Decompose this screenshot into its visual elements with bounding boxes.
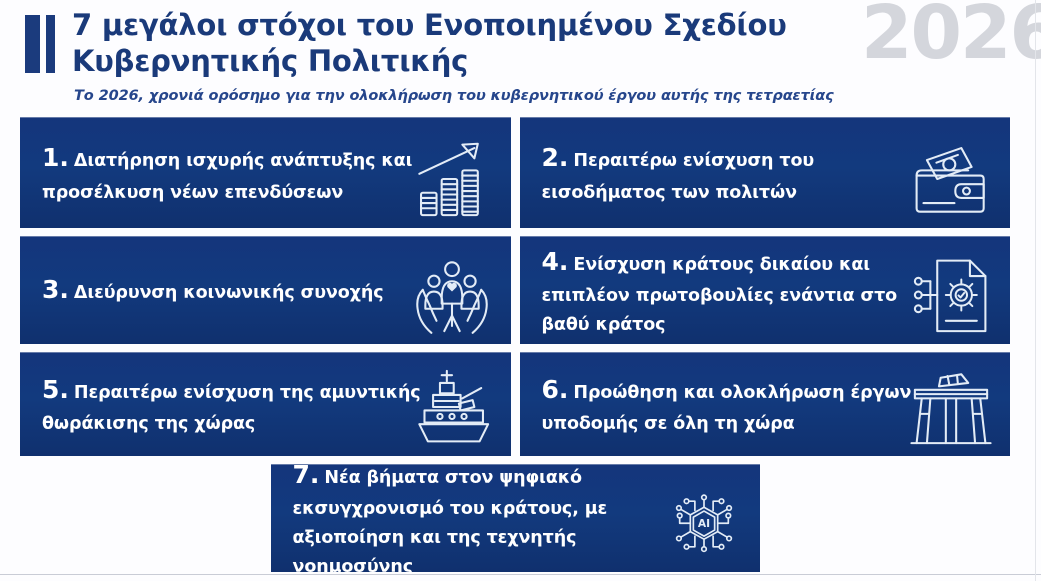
goal-card-4[interactable]: 4.Ενίσχυση κράτους δικαίου και επιπλέον … [520,236,1011,344]
logo-bars [25,15,55,73]
goal-card-7-number: 7. [293,464,320,489]
bottom-divider [0,574,1041,575]
goal-card-5-label: Περαιτέρω ενίσχυση της αμυντικής θωράκισ… [42,383,421,434]
goal-card-6-text: 6.Προώθηση και ολοκλήρωση έργων υποδομής… [520,369,925,439]
goal-card-4-number: 4. [542,247,569,276]
goal-card-3[interactable]: 3.Διεύρυνση κοινωνικής συνοχής [20,236,511,344]
goal-card-3-label: Διεύρυνση κοινωνικής συνοχής [74,283,384,303]
goal-card-2[interactable]: 2.Περαιτέρω ενίσχυση του εισοδήματος των… [520,117,1011,228]
page-title: 7 μεγάλοι στόχοι του Ενοποιημένου Σχεδίο… [72,8,902,80]
goals-row-2: 3.Διεύρυνση κοινωνικής συνοχής [20,236,1010,344]
goal-card-5-number: 5. [42,375,69,404]
goal-card-7-label: Νέα βήματα στον ψηφιακό εκσυγχρονισμό το… [293,468,608,572]
goal-card-2-label: Περαιτέρω ενίσχυση του εισοδήματος των π… [542,151,815,202]
goal-card-4-text: 4.Ενίσχυση κράτους δικαίου και επιπλέον … [520,241,925,340]
goals-row-1: 1.Διατήρηση ισχυρής ανάπτυξης και προσέλ… [20,117,1010,228]
subtitle: Το 2026, χρονιά ορόσημο για την ολοκλήρω… [74,88,834,104]
goal-card-7[interactable]: 7.Νέα βήματα στον ψηφιακό εκσυγχρονισμό … [271,464,760,572]
logo-bar-thin [46,15,55,73]
goal-card-6-number: 6. [542,375,569,404]
right-edge-divider [1035,0,1036,581]
goal-card-4-label: Ενίσχυση κράτους δικαίου και επιπλέον πρ… [542,255,898,335]
goals-row-3: 5.Περαιτέρω ενίσχυση της αμυντικής θωράκ… [20,352,1010,456]
goal-card-1-label: Διατήρηση ισχυρής ανάπτυξης και προσέλκυ… [42,151,412,202]
goals-row-4: 7.Νέα βήματα στον ψηφιακό εκσυγχρονισμό … [20,464,1010,572]
goal-card-6-label: Προώθηση και ολοκλήρωση έργων υποδομής σ… [542,383,912,434]
goal-card-1[interactable]: 1.Διατήρηση ισχυρής ανάπτυξης και προσέλ… [20,117,511,228]
goal-card-3-text: 3.Διεύρυνση κοινωνικής συνοχής [20,269,383,310]
infographic-slide: 2026 7 μεγάλοι στόχοι του Ενοποιημένου Σ… [0,0,1041,581]
ai-chip-icon: AI [666,486,742,562]
ai-chip-label: AI [697,517,709,530]
goal-card-3-number: 3. [42,275,69,304]
hands-family-heart-icon [409,252,495,338]
goal-card-2-text: 2.Περαιτέρω ενίσχυση του εισοδήματος των… [520,137,925,207]
goal-card-2-number: 2. [542,143,569,172]
goal-card-1-text: 1.Διατήρηση ισχυρής ανάπτυξης και προσέλ… [20,137,425,207]
goal-card-5-text: 5.Περαιτέρω ενίσχυση της αμυντικής θωράκ… [20,369,425,439]
goals-grid: 1.Διατήρηση ισχυρής ανάπτυξης και προσέλ… [20,117,1010,580]
goal-card-7-text: 7.Νέα βήματα στον ψηφιακό εκσυγχρονισμό … [271,464,674,572]
header: 2026 7 μεγάλοι στόχοι του Ενοποιημένου Σ… [0,0,1041,112]
title-line-1: 7 μεγάλοι στόχοι του Ενοποιημένου Σχεδίο… [72,8,902,44]
title-line-2: Κυβερνητικής Πολιτικής [72,44,902,80]
goal-card-6[interactable]: 6.Προώθηση και ολοκλήρωση έργων υποδομής… [520,352,1011,456]
goal-card-1-number: 1. [42,143,69,172]
logo-bar-thick [25,15,40,73]
goal-card-5[interactable]: 5.Περαιτέρω ενίσχυση της αμυντικής θωράκ… [20,352,511,456]
